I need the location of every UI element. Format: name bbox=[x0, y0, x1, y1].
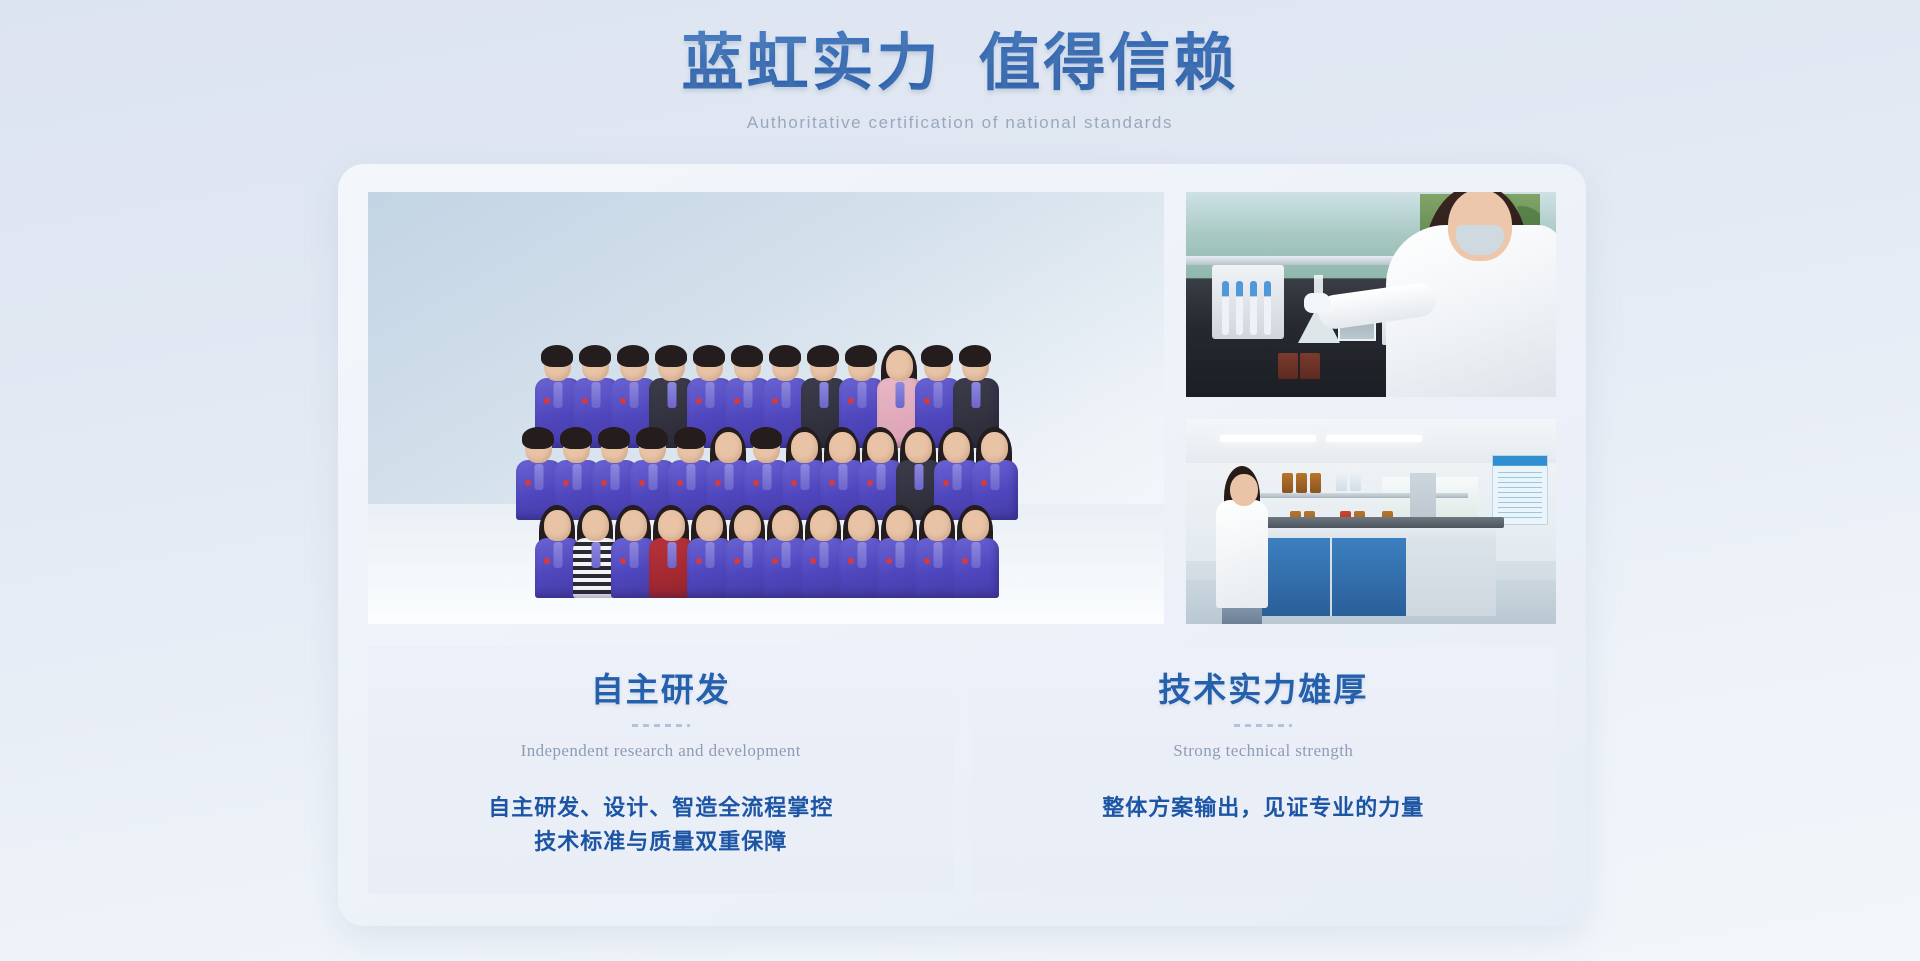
side-photo-column bbox=[1186, 192, 1556, 624]
card-body-line: 整体方案输出，见证专业的力量 bbox=[1102, 791, 1424, 825]
reagent-bottle bbox=[1296, 473, 1307, 493]
feature-cards: 自主研发 Independent research and developmen… bbox=[368, 646, 1556, 894]
blue-cabinet bbox=[1332, 538, 1406, 616]
dashed-divider-icon bbox=[632, 724, 690, 727]
card-english-subtitle: Strong technical strength bbox=[1173, 741, 1353, 761]
team-members-crowd bbox=[370, 298, 1162, 598]
reagent-bottle bbox=[1336, 471, 1347, 491]
feature-card-technical-strength[interactable]: 技术实力雄厚 Strong technical strength 整体方案输出，… bbox=[971, 646, 1557, 894]
ceiling-light bbox=[1326, 435, 1422, 442]
reagent-bottle bbox=[1350, 471, 1361, 491]
pipette bbox=[1222, 281, 1229, 335]
card-english-subtitle: Independent research and development bbox=[521, 741, 801, 761]
researcher-head bbox=[1230, 474, 1258, 506]
feature-card-independent-rd[interactable]: 自主研发 Independent research and developmen… bbox=[368, 646, 954, 894]
section-header: 蓝虹实力 值得信赖 Authoritative certification of… bbox=[0, 0, 1920, 133]
pipette bbox=[1250, 281, 1257, 335]
dashed-divider-icon bbox=[1234, 724, 1292, 727]
page-subtitle: Authoritative certification of national … bbox=[0, 113, 1920, 133]
pipette bbox=[1264, 281, 1271, 335]
lab-technician-photo[interactable] bbox=[1186, 192, 1556, 397]
card-title: 自主研发 bbox=[591, 672, 731, 712]
card-body-line: 技术标准与质量双重保障 bbox=[488, 825, 833, 859]
card-body-text: 整体方案输出，见证专业的力量 bbox=[1102, 791, 1424, 825]
crowd-row-front bbox=[370, 510, 1162, 598]
island-bench-top bbox=[1236, 517, 1504, 528]
laboratory-room-photo[interactable] bbox=[1186, 419, 1556, 624]
crowd-row-middle bbox=[370, 432, 1162, 520]
safety-poster bbox=[1492, 455, 1548, 525]
ceiling-light bbox=[1220, 435, 1316, 442]
reagent-bottle bbox=[1282, 473, 1293, 493]
content-panel: 自主研发 Independent research and developmen… bbox=[338, 164, 1586, 926]
reagent-bottle bbox=[1300, 353, 1320, 379]
team-member bbox=[953, 510, 997, 598]
reagent-bottle bbox=[1278, 353, 1298, 379]
pipette bbox=[1236, 281, 1243, 335]
card-title: 技术实力雄厚 bbox=[1158, 672, 1368, 712]
team-group-photo[interactable] bbox=[368, 192, 1164, 624]
reagent-bottle bbox=[1310, 473, 1321, 493]
card-body-text: 自主研发、设计、智造全流程掌控 技术标准与质量双重保障 bbox=[488, 791, 833, 859]
gloved-hand bbox=[1304, 293, 1330, 313]
photo-gallery bbox=[368, 192, 1556, 624]
page-title: 蓝虹实力 值得信赖 bbox=[0, 30, 1920, 99]
card-body-line: 自主研发、设计、智造全流程掌控 bbox=[488, 791, 833, 825]
researcher-labcoat bbox=[1216, 500, 1268, 608]
